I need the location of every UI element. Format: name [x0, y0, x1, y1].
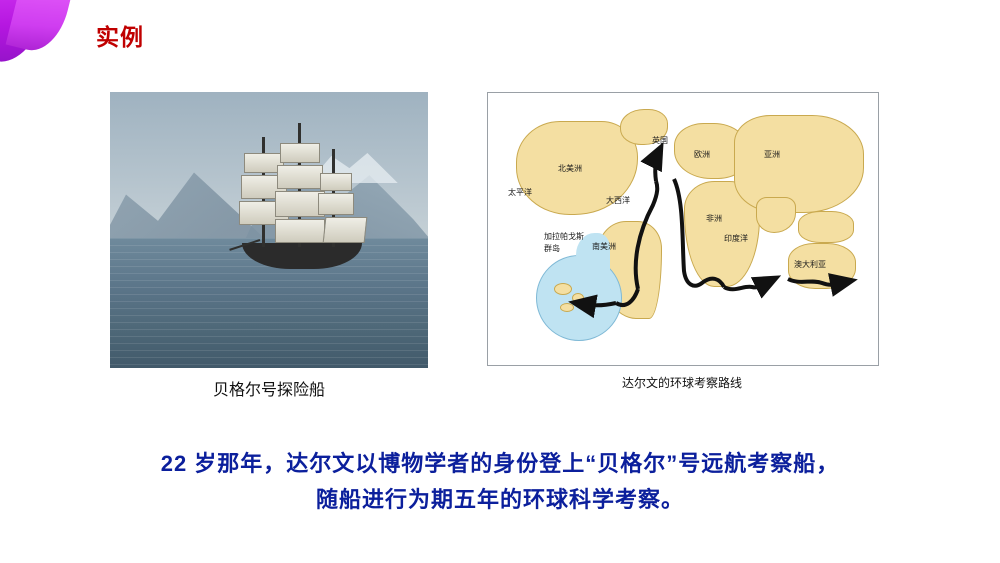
ship-sail	[277, 165, 323, 189]
ship-caption: 贝格尔号探险船	[110, 376, 428, 400]
body-line-1: 22 岁那年，达尔文以博物学者的身份登上“贝格尔”号远航考察船，	[161, 451, 840, 476]
label-galapagos-line1: 加拉帕戈斯	[544, 231, 584, 242]
label-south-america: 南美洲	[592, 241, 616, 252]
label-africa: 非洲	[706, 213, 722, 224]
page-title: 实例	[96, 18, 144, 52]
ship-sail	[320, 173, 352, 191]
slide-body-text: 22 岁那年，达尔文以博物学者的身份登上“贝格尔”号远航考察船， 随船进行为期五…	[0, 446, 1000, 518]
label-europe: 欧洲	[694, 149, 710, 160]
label-britain: 英国	[652, 135, 668, 146]
ship-photograph	[110, 92, 428, 368]
map-caption: 达尔文的环球考察路线	[487, 374, 877, 391]
ship-sail	[318, 193, 354, 215]
label-atlantic-ocean: 大西洋	[606, 195, 630, 206]
world-map: 太平洋 北美洲 英国 欧洲 亚洲 大西洋 非洲 印度洋 加拉帕戈斯 群岛 南美洲…	[487, 92, 879, 366]
figure-ship: 贝格尔号探险船	[110, 92, 428, 400]
label-australia: 澳大利亚	[794, 259, 826, 270]
figures-row: 贝格尔号探险船	[0, 92, 1000, 402]
ship-sail	[275, 219, 325, 243]
label-north-america: 北美洲	[558, 163, 582, 174]
voyage-route	[488, 93, 878, 365]
label-galapagos-line2: 群岛	[544, 243, 560, 254]
figure-map: 太平洋 北美洲 英国 欧洲 亚洲 大西洋 非洲 印度洋 加拉帕戈斯 群岛 南美洲…	[487, 92, 877, 391]
label-asia: 亚洲	[764, 149, 780, 160]
label-indian-ocean: 印度洋	[724, 233, 748, 244]
body-line-2: 随船进行为期五年的环球科学考察。	[0, 482, 1000, 518]
label-pacific-ocean: 太平洋	[508, 187, 532, 198]
sailing-ship	[228, 129, 378, 269]
ship-hull	[242, 243, 362, 269]
ship-sail	[280, 143, 320, 163]
ship-sail	[323, 217, 368, 243]
corner-decoration	[0, 0, 92, 62]
